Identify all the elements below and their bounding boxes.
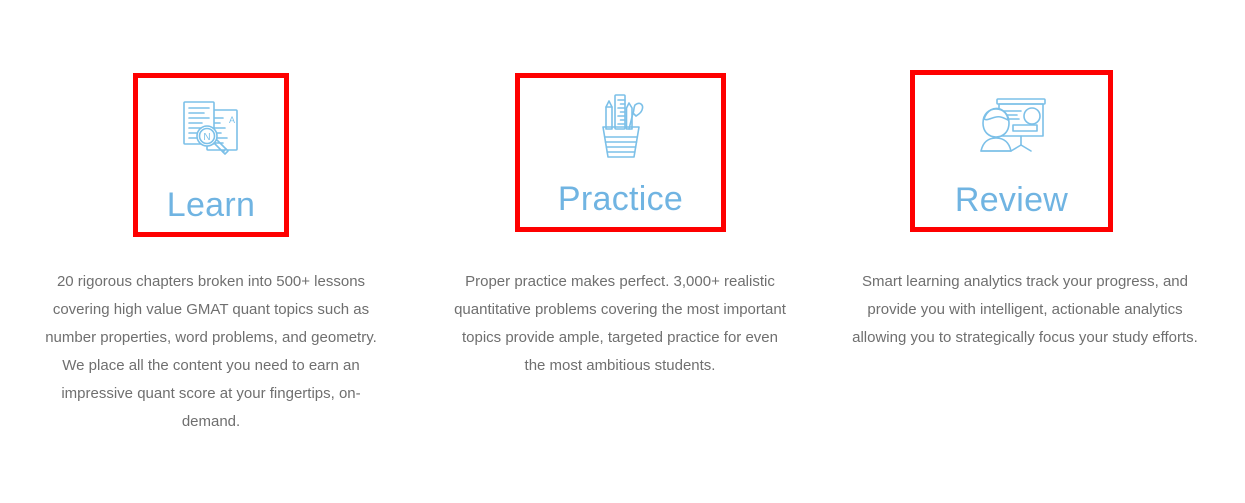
feature-title-review: Review <box>955 183 1068 217</box>
documents-magnifier-icon: A N <box>138 92 284 166</box>
presenter-whiteboard-icon <box>915 89 1108 163</box>
feature-title-learn: Learn <box>167 188 255 222</box>
feature-description-review: Smart learning analytics track your prog… <box>835 268 1215 352</box>
feature-column-review: Review Smart learning analytics track yo… <box>835 0 1215 503</box>
pencil-cup-icon <box>520 88 721 162</box>
feature-column-practice: Practice Proper practice makes perfect. … <box>430 0 810 503</box>
svg-text:N: N <box>203 132 210 143</box>
feature-description-learn: 20 rigorous chapters broken into 500+ le… <box>25 268 397 436</box>
feature-column-learn: A N <box>25 0 397 503</box>
feature-card-practice[interactable]: Practice <box>515 73 726 232</box>
feature-card-learn[interactable]: A N <box>133 73 289 237</box>
feature-columns-section: A N <box>0 0 1245 503</box>
feature-card-review[interactable]: Review <box>910 70 1113 232</box>
svg-text:A: A <box>229 115 235 125</box>
feature-description-practice: Proper practice makes perfect. 3,000+ re… <box>430 268 810 380</box>
feature-title-practice: Practice <box>558 182 683 216</box>
